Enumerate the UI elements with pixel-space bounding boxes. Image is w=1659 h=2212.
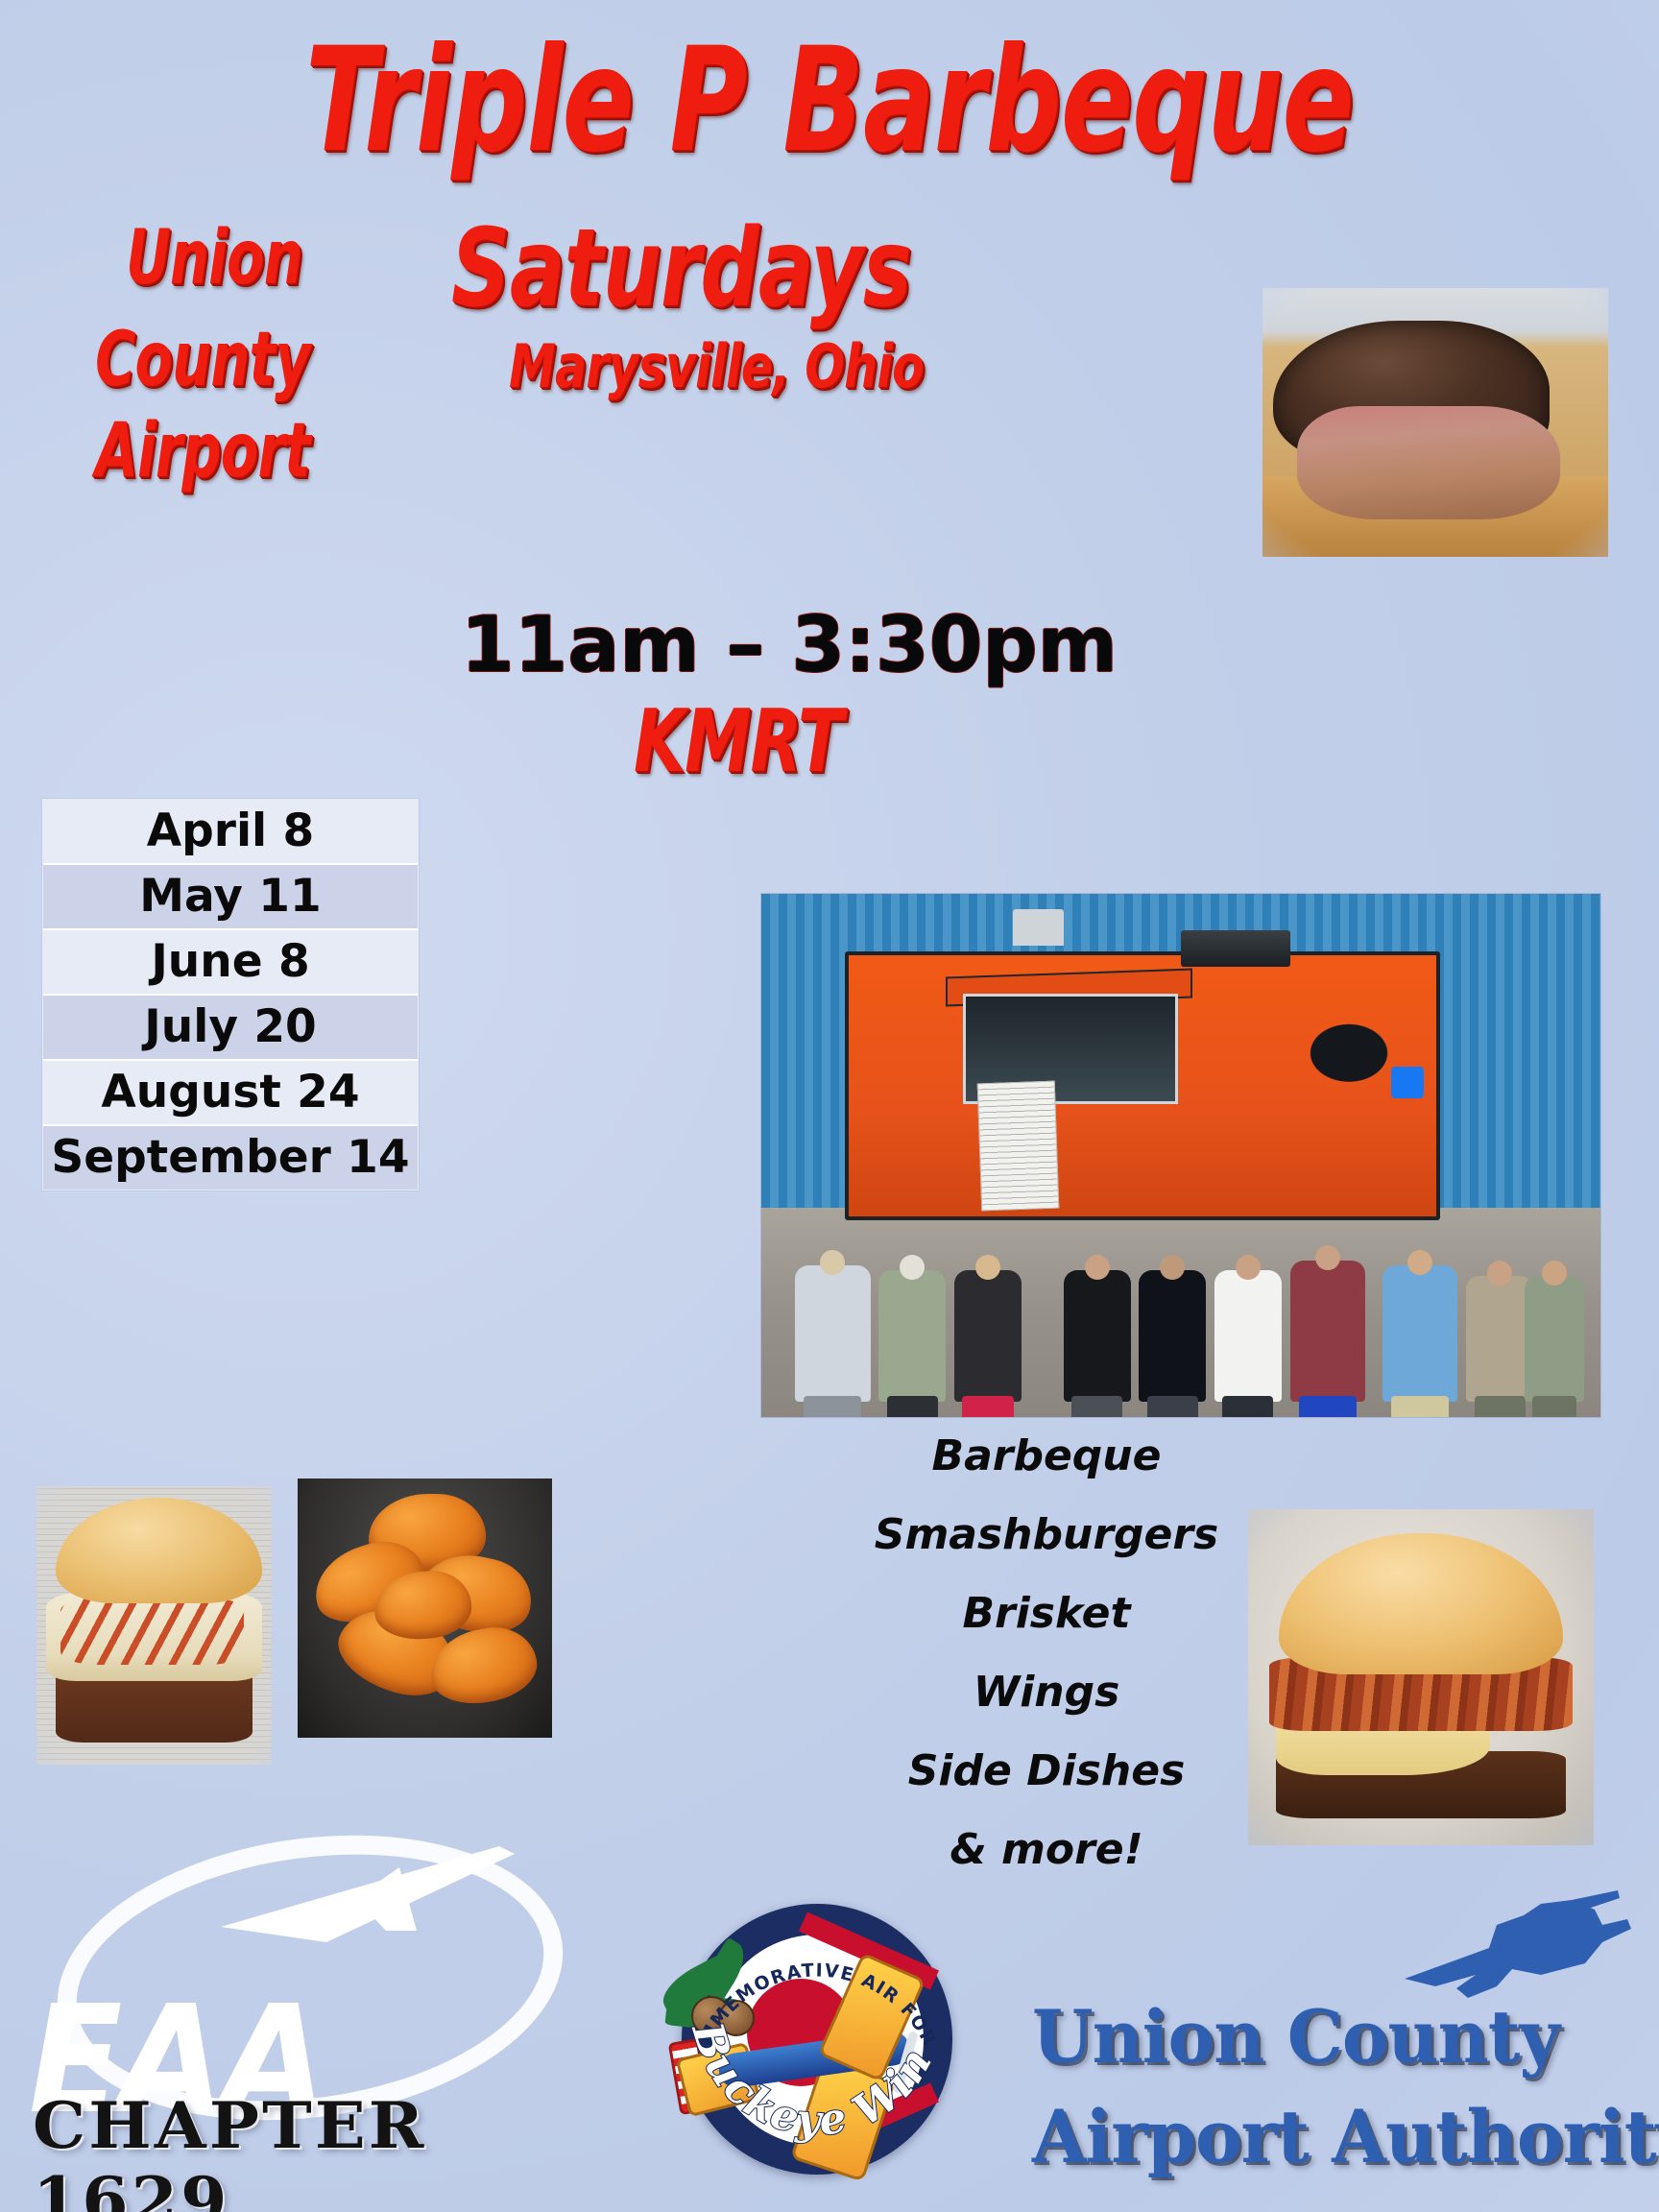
bbq-event-flyer: Triple P Barbeque Union County Airport S…	[0, 0, 1659, 2212]
menu-item: Barbeque	[864, 1435, 1229, 1478]
brisket-photo	[1262, 288, 1608, 557]
pulled-pork-sandwich-photo	[36, 1486, 272, 1765]
event-hours: 11am – 3:30pm	[461, 600, 1118, 689]
svg-text:Buckeye Wing: Buckeye Wing	[682, 1904, 942, 2146]
location-line-airport: Airport	[65, 408, 341, 494]
menu-items-list: Barbeque Smashburgers Brisket Wings Side…	[864, 1435, 1229, 1871]
table-row: September 14	[43, 1126, 418, 1190]
table-row: May 11	[43, 865, 418, 930]
table-row: July 20	[43, 996, 418, 1061]
event-dates-table: April 8 May 11 June 8 July 20 August 24 …	[42, 799, 419, 1190]
ucaa-line-1: Union County	[1032, 1994, 1622, 2080]
table-row: August 24	[43, 1061, 418, 1126]
location-line-county: County	[65, 317, 341, 403]
union-county-airport-authority-logo: Union County Airport Authority	[1032, 1887, 1647, 2212]
page-title: Triple P Barbeque	[150, 29, 1510, 173]
menu-item: Brisket	[864, 1593, 1229, 1635]
event-city: Marysville, Ohio	[509, 331, 924, 401]
menu-item: Smashburgers	[864, 1514, 1229, 1556]
airplane-icon	[1397, 1887, 1637, 2011]
airplane-icon	[211, 1839, 528, 1954]
buckeye-arc-bottom-text: Buckeye Wing	[682, 1904, 952, 2175]
airport-identifier: KMRT	[634, 691, 842, 792]
smashburger-photo	[1248, 1509, 1594, 1845]
buckeye-wing-label: Buckeye Wing	[682, 1904, 942, 2146]
eaa-chapter-label: CHAPTER 1629	[33, 2088, 597, 2212]
buckeye-wing-logo: COMMEMORATIVE AIR FORCE Buckeye Wing	[653, 1896, 960, 2203]
location-line-union: Union	[84, 215, 345, 301]
food-truck-photo	[760, 893, 1601, 1418]
table-row: April 8	[43, 800, 418, 865]
table-row: June 8	[43, 930, 418, 996]
menu-item: Wings	[864, 1671, 1229, 1714]
event-day: Saturdays	[451, 206, 911, 331]
menu-item: Side Dishes	[864, 1750, 1229, 1792]
eaa-logo: EAA CHAPTER 1629	[29, 1829, 605, 2194]
ucaa-line-2: Airport Authority	[1032, 2094, 1622, 2179]
menu-item: & more!	[864, 1829, 1229, 1871]
wings-photo	[298, 1479, 552, 1738]
